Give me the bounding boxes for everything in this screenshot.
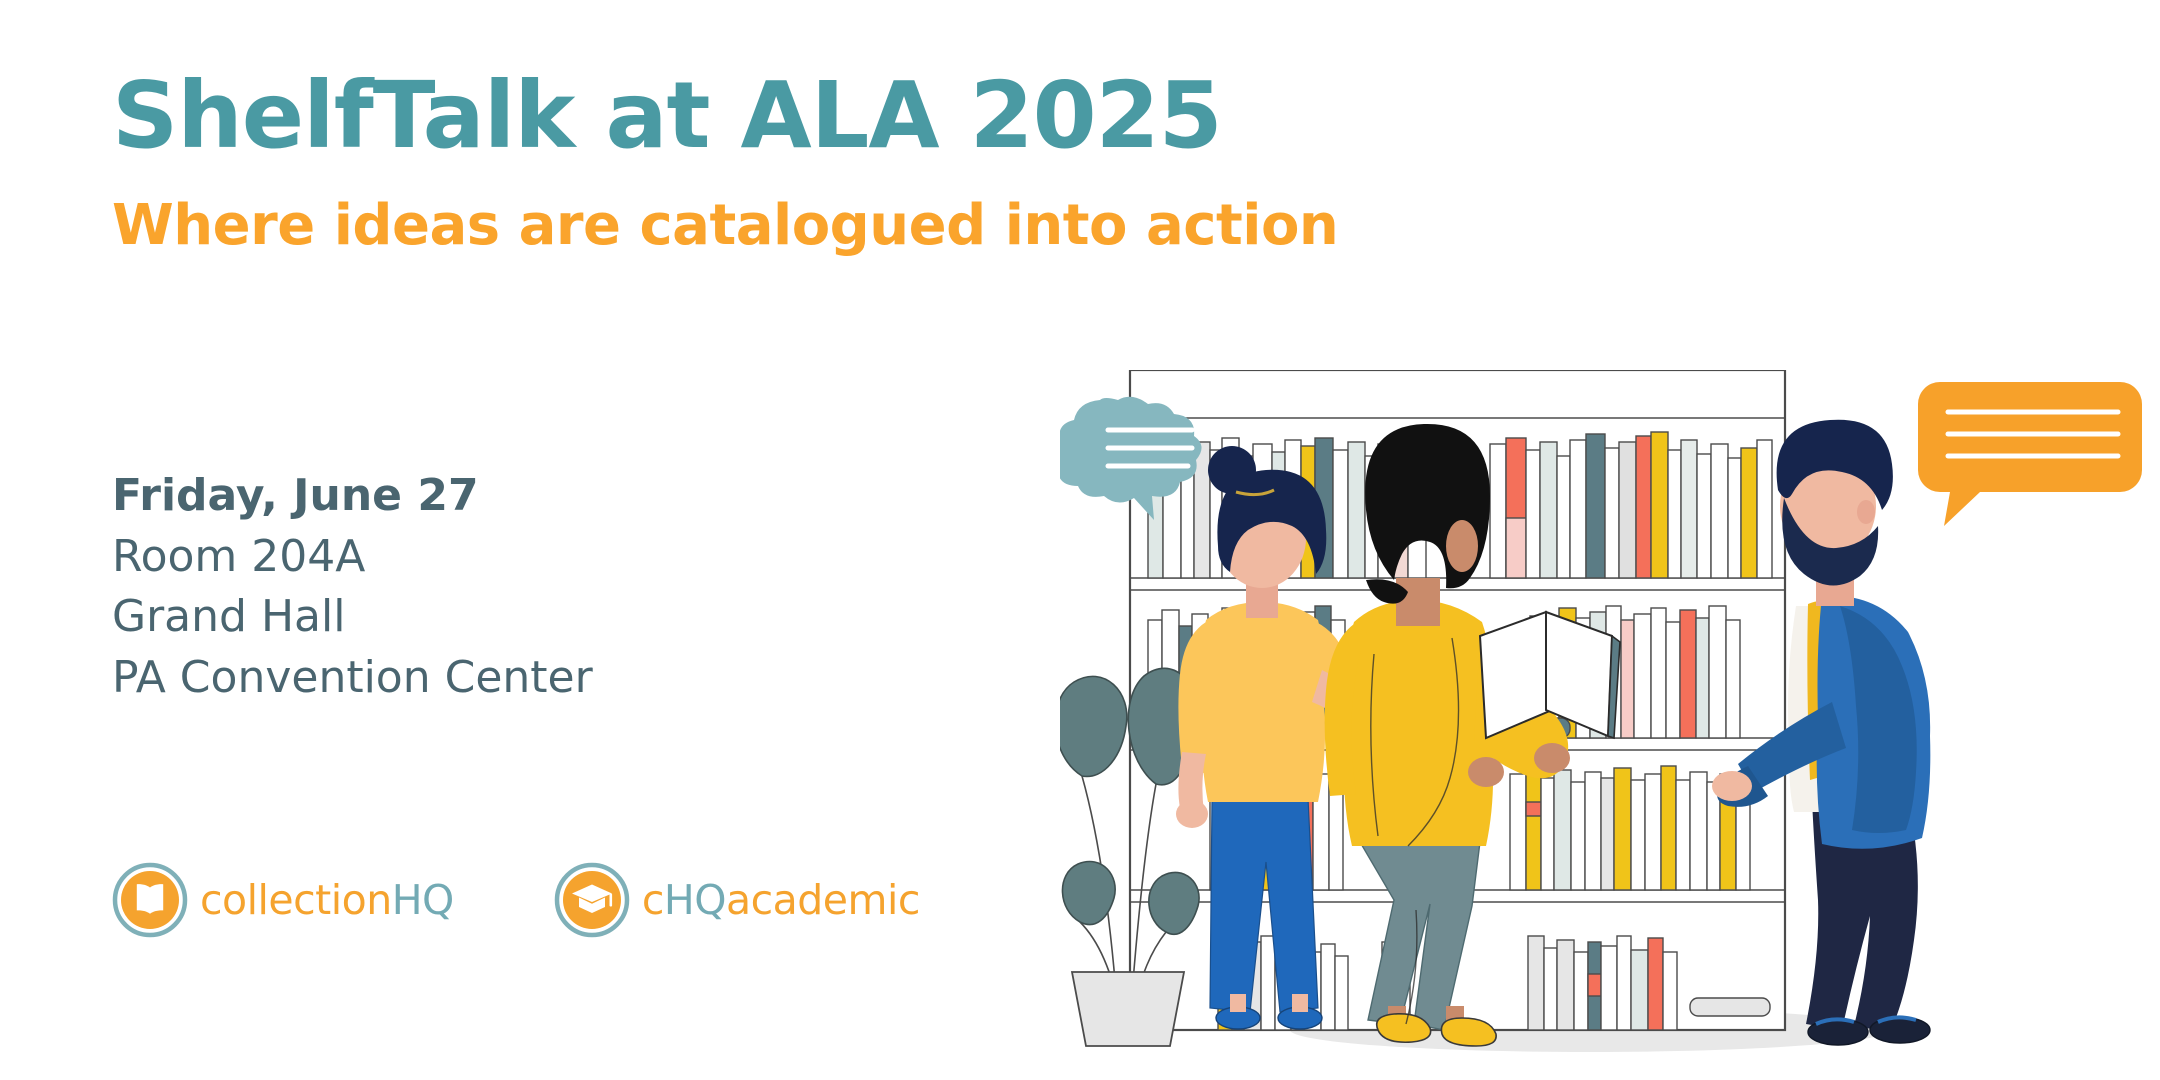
open-book-icon [137,884,163,914]
logo-word-collection: collection [200,876,392,924]
logo-word-academic: academic [726,876,920,924]
page-title: ShelfTalk at ALA 2025 [112,70,1112,162]
speech-bubble-icon [1918,382,2142,526]
banner-root: ShelfTalk at ALA 2025 Where ideas are ca… [0,0,2160,1080]
logo-word-c: c [642,876,664,924]
event-date: Friday, June 27 [112,466,872,527]
event-room: Room 204A [112,527,872,588]
collectionhq-logo-mark [112,862,188,938]
logo-word-hq: HQ [392,876,454,924]
event-venue: PA Convention Center [112,648,872,709]
event-details: Friday, June 27 Room 204A Grand Hall PA … [112,466,872,709]
headline-block: ShelfTalk at ALA 2025 Where ideas are ca… [112,70,1112,254]
collectionhq-logo[interactable]: collectionHQ [112,862,454,938]
plant-pot [1072,972,1184,1046]
logo-word-hq2: HQ [664,876,726,924]
page-subtitle: Where ideas are catalogued into action [112,198,1112,254]
chqacademic-logo[interactable]: cHQacademic [554,862,920,938]
chqacademic-wordmark: cHQacademic [642,880,920,921]
event-hall: Grand Hall [112,587,872,648]
chqacademic-logo-mark [554,862,630,938]
library-bookshelf-illustration [1060,370,2150,1080]
collectionhq-wordmark: collectionHQ [200,880,454,921]
logo-row: collectionHQ cHQacademic [112,862,920,938]
